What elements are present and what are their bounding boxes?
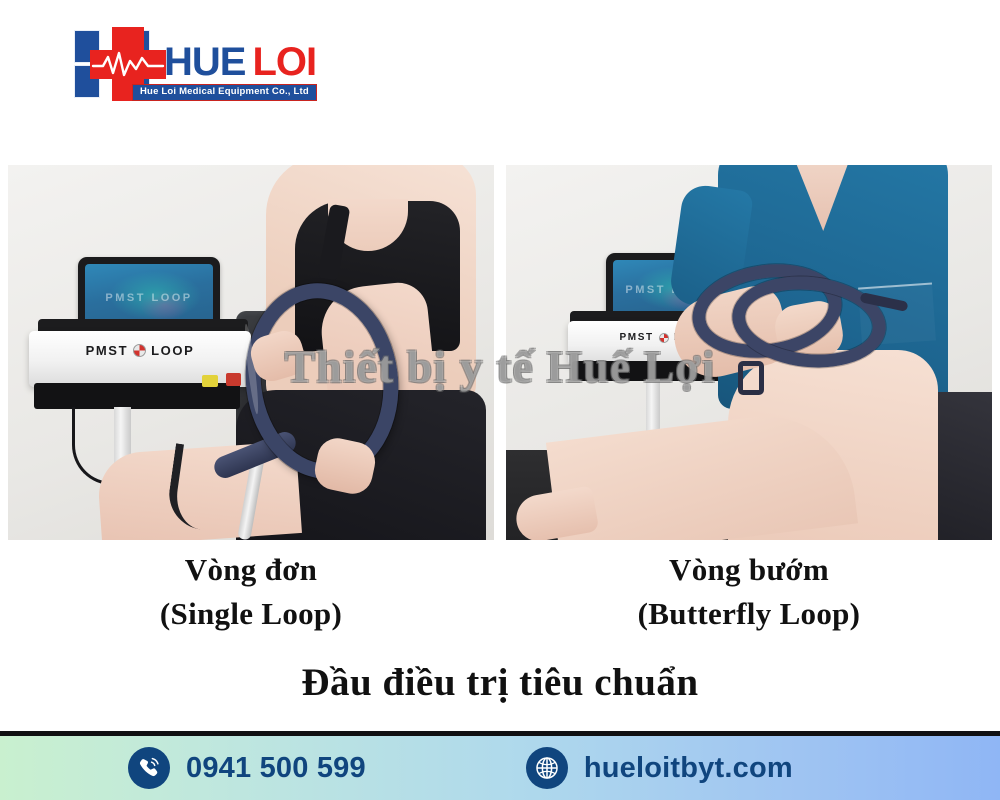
phone-number: 0941 500 599	[186, 752, 366, 785]
machine-brand-label: PMST LOOP	[29, 343, 251, 358]
brand-name-part1: HUE	[164, 40, 245, 84]
ecg-line-icon	[90, 49, 166, 80]
poster-root: HUELOI Hue Loi Medical Equipment Co., Lt…	[0, 0, 1000, 800]
yellow-connector	[202, 375, 218, 387]
globe-icon	[526, 747, 568, 789]
pmst-logo-icon	[133, 344, 146, 357]
butterfly-loop-coil	[692, 261, 892, 373]
header: HUELOI Hue Loi Medical Equipment Co., Lt…	[0, 0, 1000, 150]
caption-single-loop: Vòng đơn (Single Loop)	[8, 548, 494, 636]
caption-butterfly-loop: Vòng bướm (Butterfly Loop)	[506, 548, 992, 636]
brand-name-part2: LOI	[252, 40, 316, 84]
butterfly-loop-photo: PMST LOOP PMST LOOP	[506, 165, 992, 540]
red-connector	[226, 373, 241, 386]
single-loop-photo: PMST LOOP PMST LOOP	[8, 165, 494, 540]
contact-phone[interactable]: 0941 500 599	[128, 747, 366, 789]
page-title: Đầu điều trị tiêu chuẩn	[0, 660, 1000, 705]
caption-single-loop-vi: Vòng đơn	[8, 548, 494, 592]
contact-footer: 0941 500 599 hueloitbyt.com	[0, 736, 1000, 800]
caption-row: Vòng đơn (Single Loop) Vòng bướm (Butter…	[8, 548, 992, 636]
pmst-logo-icon	[659, 333, 669, 343]
photo-pair: PMST LOOP PMST LOOP	[8, 165, 992, 540]
caption-butterfly-loop-en: (Butterfly Loop)	[506, 592, 992, 636]
phone-call-icon	[128, 747, 170, 789]
caption-single-loop-en: (Single Loop)	[8, 592, 494, 636]
butterfly-strap-buckle	[738, 361, 764, 395]
contact-website[interactable]: hueloitbyt.com	[526, 747, 793, 789]
website-url: hueloitbyt.com	[584, 752, 793, 785]
brand-wordmark: HUELOI	[164, 42, 316, 82]
caption-butterfly-loop-vi: Vòng bướm	[506, 548, 992, 592]
machine-screen-text: PMST LOOP	[85, 292, 213, 304]
brand-logo: HUELOI Hue Loi Medical Equipment Co., Lt…	[72, 27, 302, 105]
brand-tagline: Hue Loi Medical Equipment Co., Ltd	[132, 84, 317, 101]
